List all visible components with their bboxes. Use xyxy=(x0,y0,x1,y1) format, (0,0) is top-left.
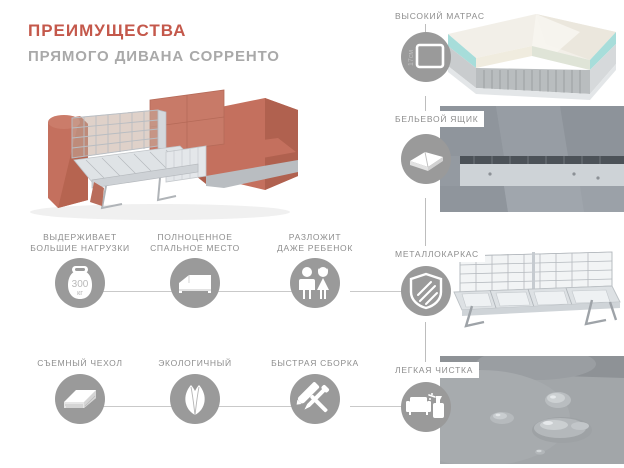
hero-sofa-image xyxy=(10,72,320,222)
connector-horizontal xyxy=(350,291,402,292)
tag-easy-cleaning: ЛЕГКАЯ ЧИСТКА xyxy=(391,362,479,378)
children-icon xyxy=(290,258,340,308)
tag-metal-frame: МЕТАЛЛОКАРКАС xyxy=(391,246,485,262)
feature-label: СЪЕМНЫЙ ЧЕХОЛ xyxy=(37,358,122,369)
removable-cover-icon xyxy=(55,374,105,424)
feature-label: ВЫДЕРЖИВАЕТ БОЛЬШИЕ НАГРУЗКИ xyxy=(20,232,140,254)
feature-label: ЭКОЛОГИЧНЫЙ xyxy=(158,358,232,369)
bed-icon xyxy=(170,258,220,308)
feature-label: БЫСТРАЯ СБОРКА xyxy=(271,358,359,369)
shield-icon xyxy=(401,266,451,316)
title-line-2: ПРЯМОГО ДИВАНА СОРРЕНТО xyxy=(28,46,280,68)
connector-vertical xyxy=(425,322,426,366)
hammer-screwdriver-icon xyxy=(290,374,340,424)
connector-horizontal xyxy=(350,406,402,407)
kettlebell-unit: кг xyxy=(77,288,83,297)
infographic-page: ПРЕИМУЩЕСТВА ПРЯМОГО ДИВАНА СОРРЕНТО xyxy=(0,0,624,468)
page-title: ПРЕИМУЩЕСТВА ПРЯМОГО ДИВАНА СОРРЕНТО xyxy=(28,20,280,68)
leaf-icon xyxy=(170,374,220,424)
tag-linen-box: БЕЛЬЕВОЙ ЯЩИК xyxy=(391,111,484,127)
mattress-height-value: 17см xyxy=(408,50,415,66)
title-line-1: ПРЕИМУЩЕСТВА xyxy=(28,20,280,42)
mattress-height-icon: 17см xyxy=(401,32,451,82)
kettlebell-icon: 300 кг xyxy=(55,258,105,308)
sofa-spray-icon xyxy=(401,382,451,432)
metal-frame-photo xyxy=(440,250,624,334)
feature-label: РАЗЛОЖИТ ДАЖЕ РЕБЕНОК xyxy=(255,232,375,254)
connector-vertical xyxy=(425,198,426,248)
feature-label: ПОЛНОЦЕННОЕ СПАЛЬНОЕ МЕСТО xyxy=(135,232,255,254)
linen-box-icon xyxy=(401,134,451,184)
tag-high-mattress: ВЫСОКИЙ МАТРАС xyxy=(391,8,491,24)
